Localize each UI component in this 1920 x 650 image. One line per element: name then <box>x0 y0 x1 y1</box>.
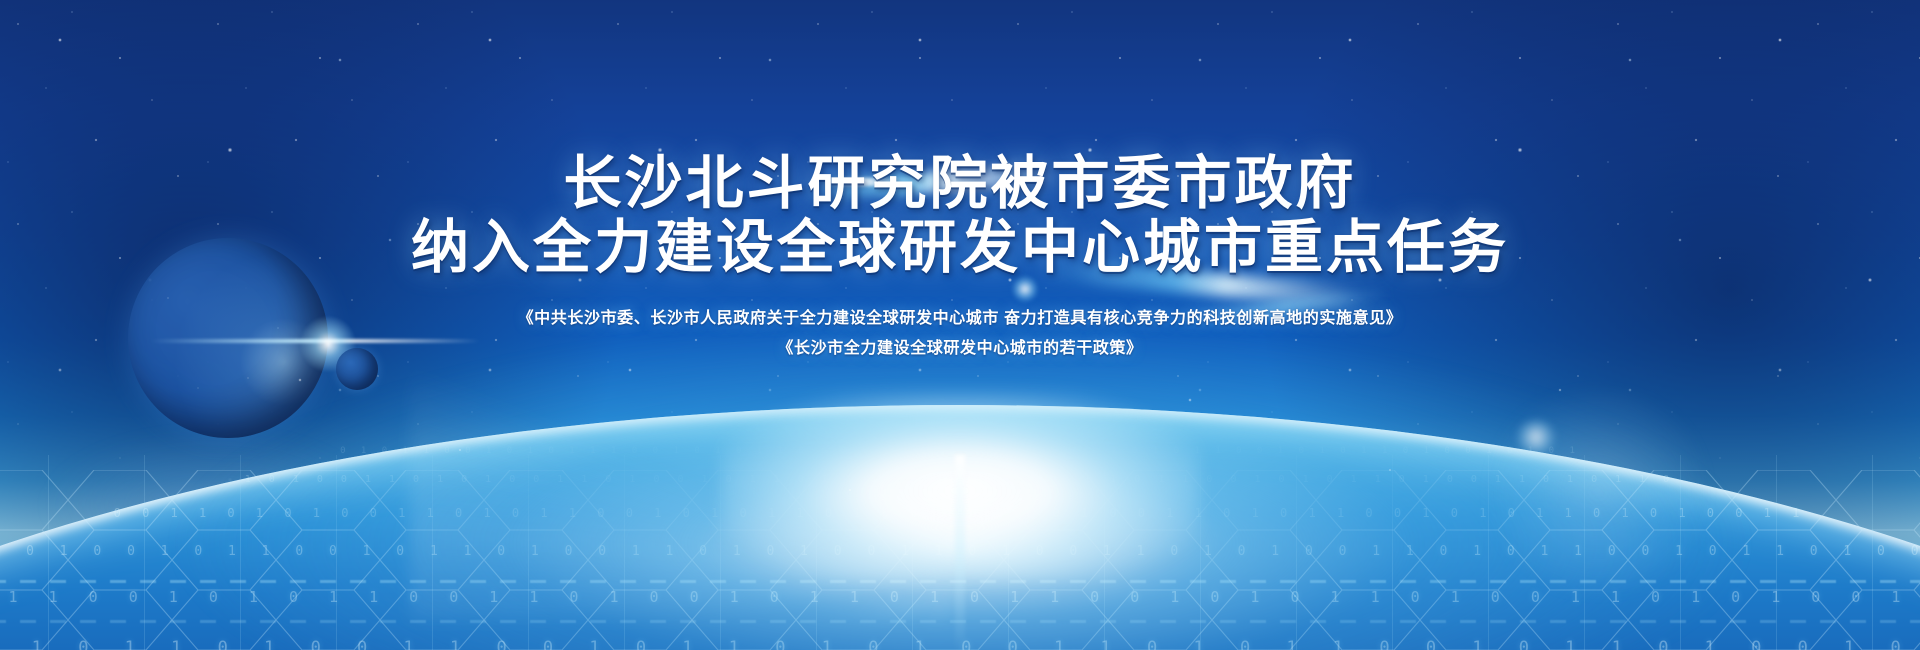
subtitle-policy-opinion: 《中共长沙市委、长沙市人民政府关于全力建设全球研发中心城市 奋力打造具有核心竞争… <box>0 304 1920 334</box>
page-title: 长沙北斗研究院被市委市政府 纳入全力建设全球研发中心城市重点任务 <box>0 0 1920 280</box>
hero-banner: 0 1 0 1 1 0 0 1 0 1 0 1 1 1 0 0 1 0 1 0 … <box>0 0 1920 650</box>
headline-line-1: 长沙北斗研究院被市委市政府 <box>0 152 1920 216</box>
subtitle-group: 《中共长沙市委、长沙市人民政府关于全力建设全球研发中心城市 奋力打造具有核心竞争… <box>0 304 1920 364</box>
headline-line-2: 纳入全力建设全球研发中心城市重点任务 <box>0 216 1920 280</box>
subtitle-policy-measures: 《长沙市全力建设全球研发中心城市的若干政策》 <box>0 334 1920 364</box>
banner-content: 长沙北斗研究院被市委市政府 纳入全力建设全球研发中心城市重点任务 《中共长沙市委… <box>0 0 1920 364</box>
sparkle-particles <box>210 340 1710 560</box>
